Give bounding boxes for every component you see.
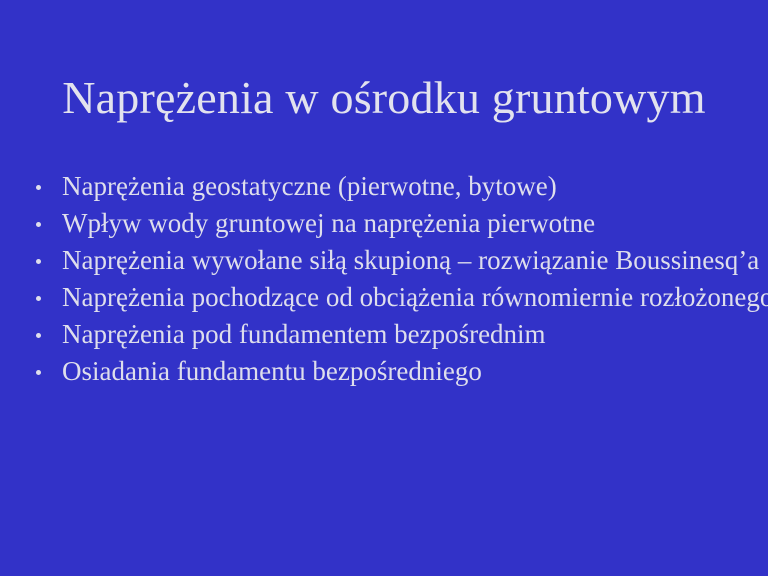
list-item: Naprężenia pochodzące od obciążenia równ… <box>26 279 750 316</box>
list-item-label: Naprężenia pochodzące od obciążenia równ… <box>62 282 768 312</box>
list-item: Naprężenia wywołane siłą skupioną – rozw… <box>26 242 750 279</box>
bullet-dot-icon <box>36 296 41 301</box>
list-item: Naprężenia geostatyczne (pierwotne, byto… <box>26 168 750 205</box>
list-item: Osiadania fundamentu bezpośredniego <box>26 353 750 390</box>
bullet-dot-icon <box>36 222 41 227</box>
bullet-dot-icon <box>36 185 41 190</box>
presentation-slide: Naprężenia w ośrodku gruntowym Naprężeni… <box>0 0 768 576</box>
bullet-list: Naprężenia geostatyczne (pierwotne, byto… <box>26 168 750 390</box>
list-item-label: Osiadania fundamentu bezpośredniego <box>62 356 482 386</box>
list-item-label: Wpływ wody gruntowej na naprężenia pierw… <box>62 208 595 238</box>
list-item-label: Naprężenia wywołane siłą skupioną – rozw… <box>62 245 759 275</box>
bullet-dot-icon <box>36 259 41 264</box>
list-item: Wpływ wody gruntowej na naprężenia pierw… <box>26 205 750 242</box>
list-item-label: Naprężenia pod fundamentem bezpośrednim <box>62 319 546 349</box>
bullet-dot-icon <box>36 333 41 338</box>
bullet-dot-icon <box>36 370 41 375</box>
list-item-label: Naprężenia geostatyczne (pierwotne, byto… <box>62 171 557 201</box>
page-title: Naprężenia w ośrodku gruntowym <box>0 72 768 124</box>
list-item: Naprężenia pod fundamentem bezpośrednim <box>26 316 750 353</box>
